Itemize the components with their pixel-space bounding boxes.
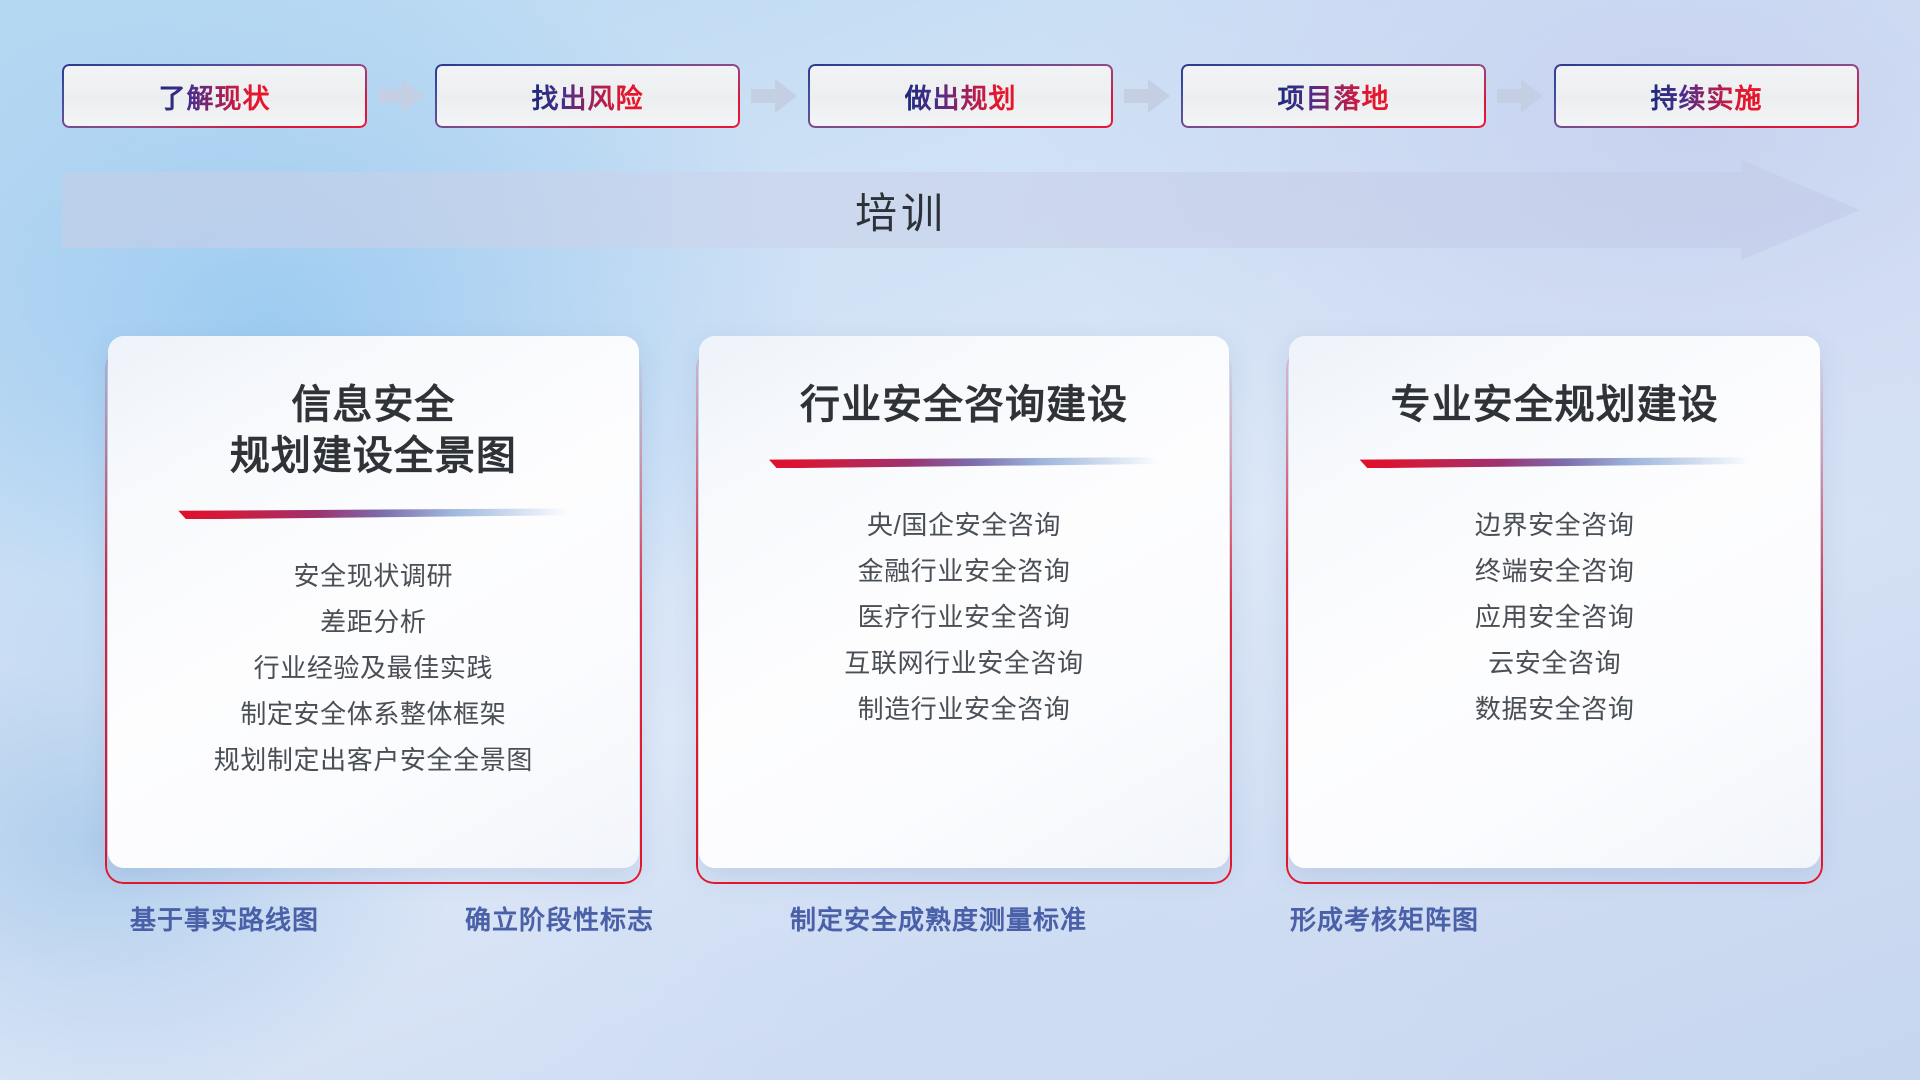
process-step-flow: 了解现状找出风险做出规划项目落地持续实施 [62,64,1862,128]
caption-3: 制定安全成熟度测量标准 [790,900,1087,937]
arrow-right-icon [367,79,435,113]
list-item: 边界安全咨询 [1315,502,1794,548]
step-label: 持续实施 [1651,77,1763,116]
card-title: 专业安全规划建设 [1391,380,1719,431]
list-item: 医疗行业安全咨询 [725,594,1204,640]
step-label: 做出规划 [905,77,1017,116]
card-item-list: 边界安全咨询终端安全咨询应用安全咨询云安全咨询数据安全咨询 [1315,502,1794,732]
card-item-list: 央/国企安全咨询金融行业安全咨询医疗行业安全咨询互联网行业安全咨询制造行业安全咨… [725,502,1204,732]
card-divider [769,457,1159,468]
slide-canvas: 了解现状找出风险做出规划项目落地持续实施 培训 信息安全 规划建设全景图安全现状… [0,0,1920,1080]
card-item-list: 安全现状调研差距分析行业经验及最佳实践制定安全体系整体框架规划制定出客户安全全景… [134,553,613,783]
list-item: 终端安全咨询 [1315,548,1794,594]
card-title: 行业安全咨询建设 [800,380,1128,431]
list-item: 央/国企安全咨询 [725,502,1204,548]
list-item: 云安全咨询 [1315,640,1794,686]
list-item: 制定安全体系整体框架 [134,691,613,737]
step-box-4[interactable]: 项目落地 [1181,64,1486,128]
caption-4: 形成考核矩阵图 [1290,900,1479,937]
caption-row: 基于事实路线图确立阶段性标志制定安全成熟度测量标准形成考核矩阵图 [0,900,1920,952]
service-card-2[interactable]: 行业安全咨询建设央/国企安全咨询金融行业安全咨询医疗行业安全咨询互联网行业安全咨… [699,336,1230,868]
step-box-5[interactable]: 持续实施 [1554,64,1859,128]
step-box-3[interactable]: 做出规划 [808,64,1113,128]
list-item: 互联网行业安全咨询 [725,640,1204,686]
card-divider [178,508,568,519]
banner-title: 培训 [62,160,1740,260]
service-card-3[interactable]: 专业安全规划建设边界安全咨询终端安全咨询应用安全咨询云安全咨询数据安全咨询 [1289,336,1820,868]
list-item: 行业经验及最佳实践 [134,645,613,691]
step-label: 了解现状 [159,77,271,116]
step-label: 找出风险 [532,77,644,116]
caption-2: 确立阶段性标志 [465,900,654,937]
step-box-2[interactable]: 找出风险 [435,64,740,128]
card-grid: 信息安全 规划建设全景图安全现状调研差距分析行业经验及最佳实践制定安全体系整体框… [108,336,1820,868]
list-item: 应用安全咨询 [1315,594,1794,640]
step-label: 项目落地 [1278,77,1390,116]
list-item: 数据安全咨询 [1315,686,1794,732]
card-title: 信息安全 规划建设全景图 [230,380,517,482]
caption-1: 基于事实路线图 [130,900,319,937]
list-item: 规划制定出客户安全全景图 [134,737,613,783]
training-banner: 培训 [62,160,1860,260]
list-item: 安全现状调研 [134,553,613,599]
step-box-1[interactable]: 了解现状 [62,64,367,128]
service-card-1[interactable]: 信息安全 规划建设全景图安全现状调研差距分析行业经验及最佳实践制定安全体系整体框… [108,336,639,868]
arrow-right-icon [1486,79,1554,113]
arrow-right-icon [740,79,808,113]
list-item: 金融行业安全咨询 [725,548,1204,594]
list-item: 差距分析 [134,599,613,645]
arrow-right-icon [1113,79,1181,113]
list-item: 制造行业安全咨询 [725,686,1204,732]
card-divider [1360,457,1750,468]
